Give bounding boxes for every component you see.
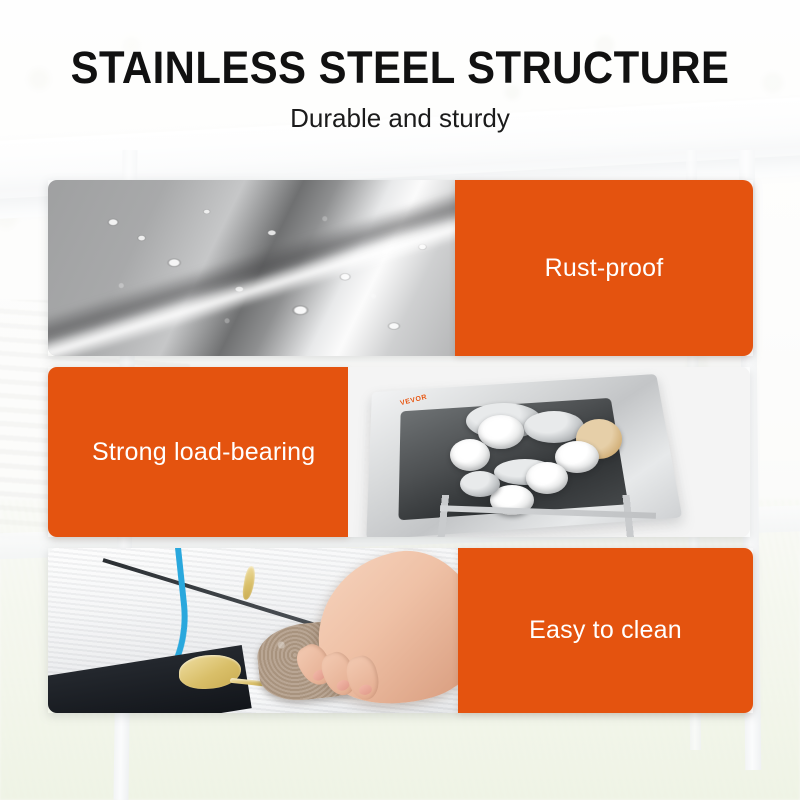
cookware-item bbox=[524, 411, 584, 443]
feature-row-rust-proof: Rust-proof bbox=[48, 180, 753, 356]
feature-row-strong-load-bearing: Strong load-bearing VEVOR bbox=[48, 367, 750, 537]
feature-label-panel-rust-proof: Rust-proof bbox=[455, 180, 753, 356]
page-title: STAINLESS STEEL STRUCTURE bbox=[28, 44, 772, 91]
sink-legs bbox=[430, 495, 660, 537]
page-subtitle: Durable and sturdy bbox=[0, 103, 800, 134]
feature-label-panel-easy-to-clean: Easy to clean bbox=[458, 548, 753, 713]
feature-row-easy-to-clean: Easy to clean bbox=[48, 548, 753, 713]
feature-label-rust-proof: Rust-proof bbox=[545, 254, 664, 283]
bowl-item bbox=[526, 462, 568, 494]
bowl-item bbox=[450, 439, 490, 471]
poster-headings: STAINLESS STEEL STRUCTURE Durable and st… bbox=[0, 0, 800, 134]
feature-image-easy-to-clean bbox=[48, 548, 458, 713]
cleaning-scene bbox=[48, 548, 458, 713]
fingernail bbox=[358, 683, 373, 696]
feature-label-easy-to-clean: Easy to clean bbox=[529, 616, 682, 645]
product-feature-poster: STAINLESS STEEL STRUCTURE Durable and st… bbox=[0, 0, 800, 800]
feature-label-panel-strong-load-bearing: Strong load-bearing bbox=[48, 367, 348, 537]
feature-image-rust-proof bbox=[48, 180, 455, 356]
feature-label-strong-load-bearing: Strong load-bearing bbox=[92, 438, 315, 467]
cookware-item bbox=[460, 471, 500, 497]
feature-image-strong-load-bearing: VEVOR bbox=[348, 367, 750, 537]
sink-scene: VEVOR bbox=[348, 367, 750, 537]
